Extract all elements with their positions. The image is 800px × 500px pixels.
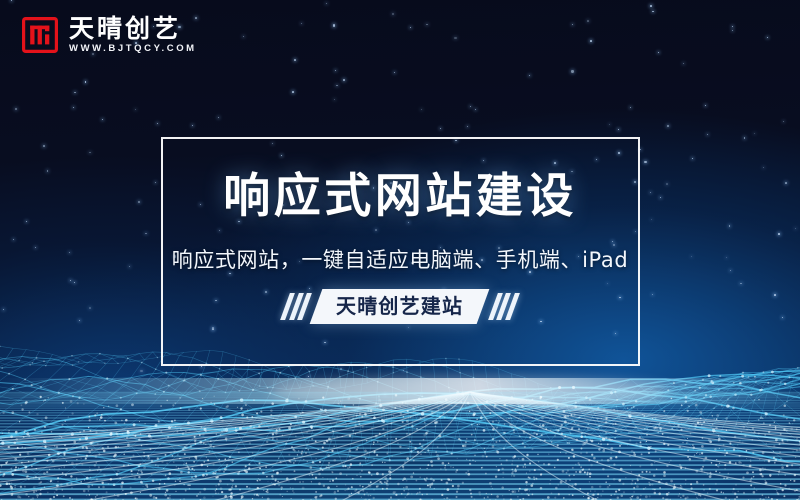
logo-brand-name: 天晴创艺: [69, 16, 197, 42]
slash-decoration-right-icon: [493, 293, 515, 320]
hero-content: 响应式网站建设 响应式网站，一键自适应电脑端、手机端、iPad 天晴创艺建站: [0, 130, 800, 324]
logo-website-url: WWW.BJTQCY.COM: [69, 44, 197, 54]
hero-badge[interactable]: 天晴创艺建站: [310, 289, 490, 324]
hero-banner: 天晴创艺 WWW.BJTQCY.COM 响应式网站建设 响应式网站，一键自适应电…: [0, 0, 800, 500]
hero-badge-row: 天晴创艺建站: [285, 289, 514, 324]
brand-logo[interactable]: 天晴创艺 WWW.BJTQCY.COM: [22, 16, 197, 54]
tianqing-square-logo-icon: [22, 17, 58, 53]
hero-badge-label: 天晴创艺建站: [336, 294, 463, 319]
logo-text-block: 天晴创艺 WWW.BJTQCY.COM: [69, 16, 197, 54]
hero-subtitle: 响应式网站，一键自适应电脑端、手机端、iPad: [172, 245, 629, 275]
page-title: 响应式网站建设: [223, 166, 577, 228]
slash-decoration-left-icon: [285, 293, 307, 320]
